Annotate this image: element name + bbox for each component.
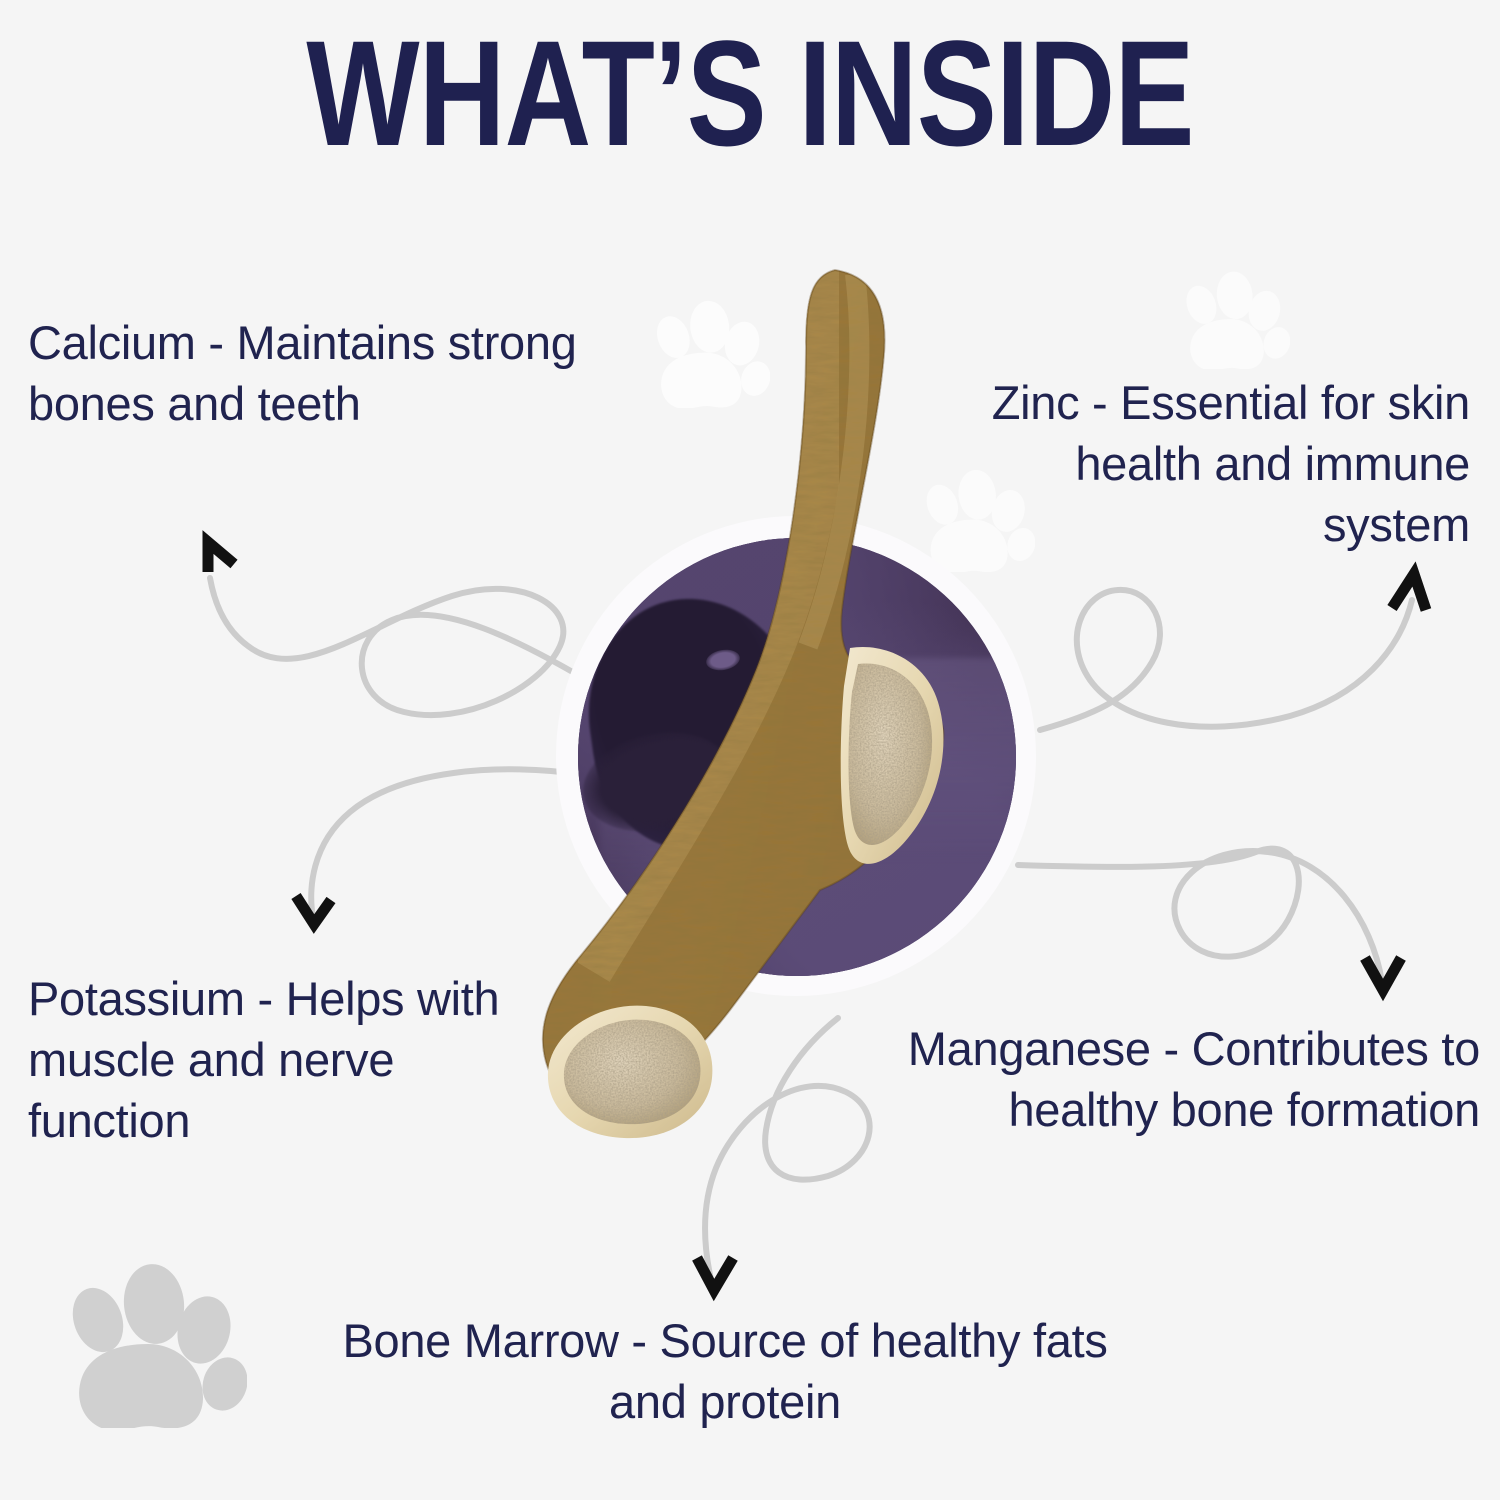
callout-manganese: Manganese - Contributes to healthy bone …: [880, 1018, 1480, 1140]
arrowhead-bone-marrow: [697, 1258, 733, 1290]
callout-zinc: Zinc - Essential for skin health and imm…: [930, 372, 1470, 555]
arrow-path-manganese: [1018, 849, 1382, 982]
antler-marrow-upper: [841, 647, 944, 864]
arrow-path-zinc: [1040, 590, 1412, 730]
callout-bone-marrow: Bone Marrow - Source of healthy fats and…: [330, 1310, 1120, 1432]
callout-calcium: Calcium - Maintains strong bones and tee…: [28, 312, 588, 434]
infographic-canvas: WHAT’S INSIDE: [0, 0, 1500, 1500]
antler-chew-product: [520, 250, 990, 1150]
arrowhead-calcium: [208, 542, 234, 572]
callout-potassium: Potassium - Helps with muscle and nerve …: [28, 968, 548, 1151]
